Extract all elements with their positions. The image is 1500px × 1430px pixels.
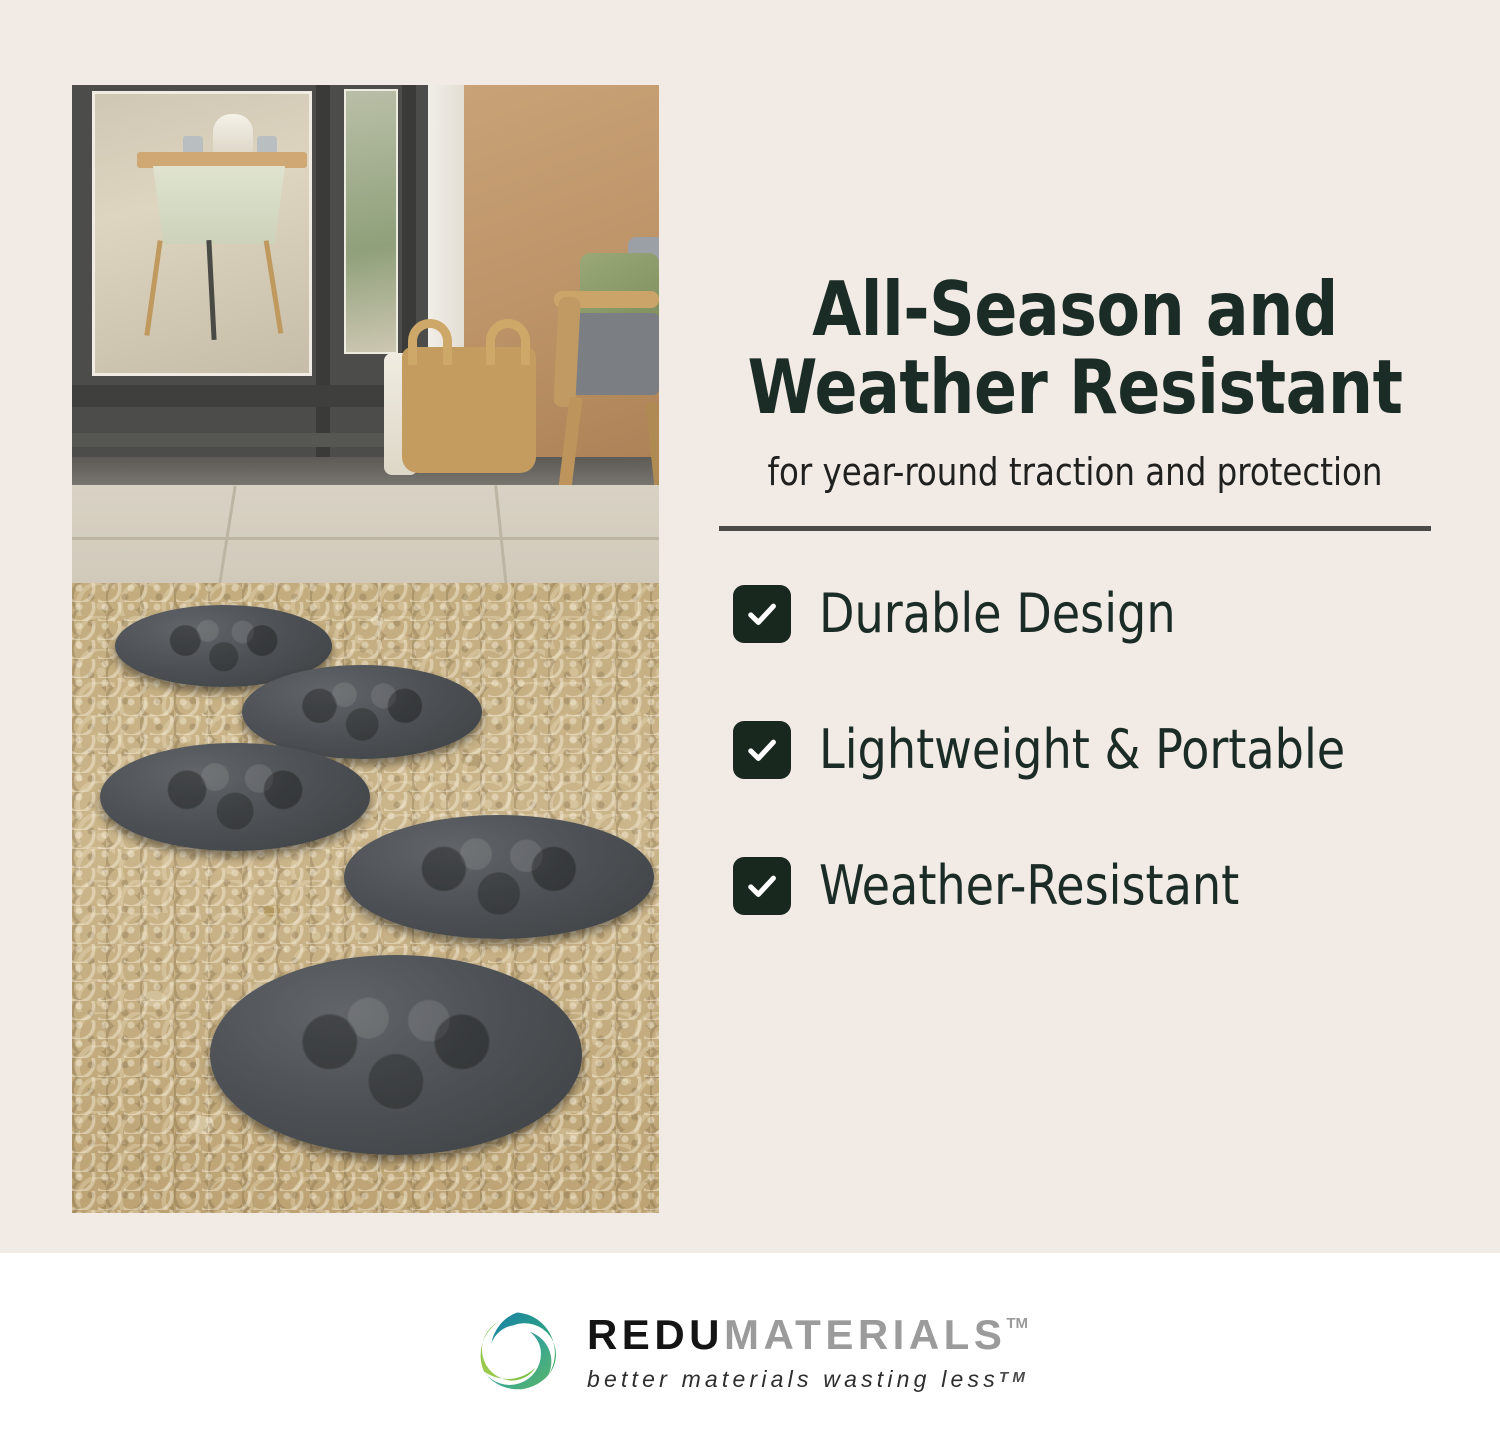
brand-name-row: REDU MATERIALS TM xyxy=(587,1314,1029,1356)
brand-wordmark: REDU MATERIALS TM better materials wasti… xyxy=(587,1314,1029,1391)
patio-door-frame xyxy=(72,85,428,465)
brand-name-secondary: MATERIALS xyxy=(724,1314,1006,1356)
list-item: Weather-Resistant xyxy=(733,857,1445,915)
wicker-basket xyxy=(402,347,536,473)
checkmark-icon xyxy=(733,721,791,779)
door-rail-lower xyxy=(72,385,428,407)
door-rail-bottom xyxy=(72,433,428,447)
headline-line-2: Weather Resistant xyxy=(727,348,1423,426)
feature-label: Lightweight & Portable xyxy=(819,723,1345,777)
door-glass-pane-narrow xyxy=(344,89,398,354)
feature-checklist: Durable Design Lightweight & Portable xyxy=(705,585,1445,915)
divider xyxy=(719,526,1431,531)
brand-logo: REDU MATERIALS TM better materials wasti… xyxy=(471,1307,1029,1399)
brand-tagline-row: better materials wasting less TM xyxy=(587,1368,1029,1391)
page-subtitle: for year-round traction and protection xyxy=(724,450,1427,496)
page-title: All-Season and Weather Resistant xyxy=(727,270,1423,426)
table-leg-1 xyxy=(144,240,162,336)
checkmark-icon xyxy=(733,857,791,915)
trademark-symbol-brand: TM xyxy=(1006,1316,1028,1331)
checkmark-icon xyxy=(733,585,791,643)
gravel-bed xyxy=(72,583,659,1213)
redu-swirl-icon xyxy=(471,1307,563,1399)
product-photo xyxy=(72,85,659,1213)
stepping-stone-5 xyxy=(210,955,582,1155)
brand-name-primary: REDU xyxy=(587,1314,724,1356)
stepping-stone-3 xyxy=(100,743,370,851)
vase xyxy=(213,114,253,156)
brand-tagline: better materials wasting less xyxy=(587,1368,999,1391)
list-item: Lightweight & Portable xyxy=(733,721,1445,779)
stepping-stone-4 xyxy=(344,815,654,939)
table-cloth xyxy=(153,166,285,244)
table-leg-3 xyxy=(264,240,284,334)
list-item: Durable Design xyxy=(733,585,1445,643)
trademark-symbol-tagline: TM xyxy=(999,1370,1029,1385)
infographic-root: All-Season and Weather Resistant for yea… xyxy=(0,0,1500,1430)
side-table-top xyxy=(137,152,307,168)
hero-panel: All-Season and Weather Resistant for yea… xyxy=(0,0,1500,1253)
basket-handle-left xyxy=(408,319,452,365)
paving-joint-h xyxy=(72,537,659,540)
content-column: All-Season and Weather Resistant for yea… xyxy=(705,85,1445,1185)
footer-bar: REDU MATERIALS TM better materials wasti… xyxy=(0,1253,1500,1430)
door-mullion-1 xyxy=(316,85,330,465)
door-glass-pane xyxy=(92,91,312,376)
chair-seat-cushion xyxy=(572,313,659,395)
table-leg-2 xyxy=(206,240,216,340)
photo-scene xyxy=(72,85,659,1213)
feature-label: Weather-Resistant xyxy=(819,859,1239,913)
feature-label: Durable Design xyxy=(819,587,1176,641)
headline-line-1: All-Season and xyxy=(727,270,1423,348)
basket-handle-right xyxy=(486,319,530,365)
